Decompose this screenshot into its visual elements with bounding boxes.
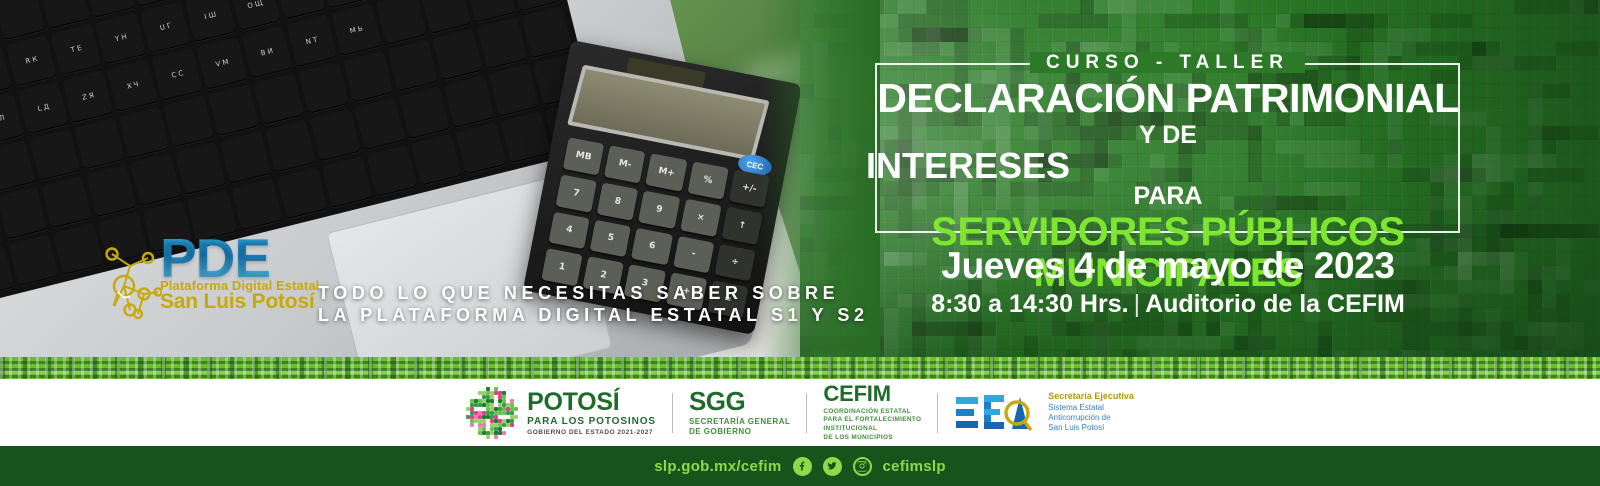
sea-line-3: Anticorrupción de [1048, 413, 1134, 423]
facebook-icon[interactable] [793, 457, 812, 476]
keyboard-key [42, 176, 92, 228]
keyboard-key: T Е [51, 23, 101, 75]
sea-line-4: San Luis Potosí [1048, 423, 1134, 433]
calculator-key: ÷ [714, 244, 756, 282]
emblem-pixel [494, 415, 498, 419]
emblem-pixel [490, 399, 494, 403]
keyboard-key: V М [197, 37, 247, 89]
calculator-key: % [687, 161, 729, 199]
keyboard-key [477, 17, 527, 69]
emblem-pixel [514, 407, 518, 411]
keyboard-key [376, 0, 426, 44]
institutional-logo-bar: POTOSÍ PARA LOS POTOSINOS GOBIERNO DEL E… [0, 379, 1600, 446]
detail-separator: | [1129, 290, 1146, 318]
keyboard-key [444, 75, 494, 127]
keyboard-key: X Ч [108, 59, 158, 111]
pde-logo-text: PDE Plataforma Digital Estatal San Luis … [160, 232, 319, 314]
emblem-pixel [502, 399, 506, 403]
calculator-key: 7 [556, 174, 598, 212]
keyboard-key [131, 153, 181, 205]
headline-line-2-c: PARA [1134, 182, 1203, 210]
decorative-mosaic-strip [0, 357, 1600, 379]
keyboard-key [420, 0, 470, 33]
cefim-logo: CEFIM COORDINACIÓN ESTATAL PARA EL FORTA… [823, 383, 921, 443]
cefim-subtitle-line-2: PARA EL FORTALECIMIENTO [823, 416, 921, 425]
event-details: Jueves 4 de mayo de 2023 8:30 a 14:30 Hr… [866, 245, 1470, 319]
calculator-key: - [673, 235, 715, 273]
sea-logo-text: Secretaría Ejecutiva Sistema Estatal Ant… [1048, 391, 1134, 433]
emblem-pixel [510, 419, 514, 423]
network-nodes-icon [100, 240, 162, 330]
keyboard-key: U Г [140, 1, 190, 53]
cefim-subtitle: COORDINACIÓN ESTATAL PARA EL FORTALECIMI… [823, 408, 921, 443]
calculator-key: +/- [729, 169, 771, 207]
keyboard-key [0, 0, 45, 40]
keyboard-key [277, 167, 327, 219]
calculator-key: 5 [590, 219, 632, 257]
calculator-key: 1 [541, 248, 583, 286]
keyboard-key [354, 98, 404, 150]
event-time-venue: 8:30 a 14:30 Hrs.|Auditorio de la CEFIM [866, 290, 1470, 319]
keyboard-key: Y Н [96, 12, 146, 64]
cefim-subtitle-line-3: INSTITUCIONAL [823, 425, 921, 434]
keyboard-key: B И [242, 26, 292, 78]
sea-emblem-icon [954, 391, 1040, 435]
sea-title: Secretaría Ejecutiva [1048, 391, 1134, 402]
keyboard-key [298, 62, 348, 114]
headline-line-2: Y DE INTERESES PARA [866, 123, 1470, 209]
keyboard-key [86, 164, 136, 216]
calculator-key: 8 [597, 182, 639, 220]
calculator-key: 4 [548, 211, 590, 249]
logo-divider [672, 393, 673, 433]
emblem-pixel [494, 435, 498, 439]
keyboard-key [500, 111, 550, 163]
emblem-pixel [490, 403, 494, 407]
calculator-key: × [680, 198, 722, 236]
keyboard-key [164, 95, 214, 147]
emblem-pixel [502, 391, 506, 395]
emblem-pixel [502, 431, 506, 435]
logo-divider [937, 393, 938, 433]
tagline-line-2: LA PLATAFORMA DIGITAL ESTATAL S1 Y S2 [318, 305, 869, 327]
sea-logo: Secretaría Ejecutiva Sistema Estatal Ant… [954, 391, 1134, 435]
social-handle[interactable]: cefimslp [883, 458, 946, 475]
event-date: Jueves 4 de mayo de 2023 [866, 245, 1470, 287]
emblem-pixel [482, 419, 486, 423]
sgg-subtitle-line-1: SECRETARÍA GENERAL [689, 417, 790, 427]
potosi-logo-text: POTOSÍ PARA LOS POTOSINOS GOBIERNO DEL E… [527, 390, 656, 436]
twitter-icon[interactable] [823, 457, 842, 476]
sgg-logo: SGG SECRETARÍA GENERAL DE GOBIERNO [689, 388, 790, 437]
potosi-gov-line: GOBIERNO DEL ESTADO 2021-2027 [527, 429, 656, 436]
keyboard-key [53, 223, 103, 275]
keyboard-key [30, 129, 80, 181]
emblem-pixel [470, 407, 474, 411]
kicker-label: CURSO - TALLER [875, 52, 1460, 74]
keyboard-key [456, 122, 506, 174]
keyboard-key: O Щ [230, 0, 280, 31]
emblem-pixel [502, 395, 506, 399]
sgg-subtitle: SECRETARÍA GENERAL DE GOBIERNO [689, 417, 790, 437]
headline-line-2-b: INTERESES [866, 148, 1470, 184]
cefim-subtitle-line-1: COORDINACIÓN ESTATAL [823, 408, 921, 417]
keyboard-key [343, 51, 393, 103]
pde-subtitle-2: San Luis Potosí [160, 290, 319, 314]
keyboard-key [0, 187, 47, 239]
contact-bar: slp.gob.mx/cefim cefimslp [0, 446, 1600, 486]
keyboard-key [75, 117, 125, 169]
keyboard-key [387, 39, 437, 91]
keyboard-key [310, 109, 360, 161]
emblem-pixel [490, 395, 494, 399]
keyboard-key [432, 28, 482, 80]
keyboard-key [232, 178, 282, 230]
cefim-acronym: CEFIM [823, 383, 921, 405]
emblem-pixel [494, 387, 498, 391]
tagline: TODO LO QUE NECESITAS SABER SOBRE LA PLA… [318, 283, 869, 327]
website-url[interactable]: slp.gob.mx/cefim [654, 458, 781, 475]
calculator-key: 6 [631, 227, 673, 265]
keyboard-key: R К [6, 34, 56, 86]
kicker-text: CURSO - TALLER [1030, 52, 1305, 73]
emblem-pixel [486, 387, 490, 391]
keyboard-key [0, 140, 36, 192]
headline-line-1: DECLARACIÓN PATRIMONIAL [866, 78, 1470, 119]
calculator-key: M+ [646, 153, 688, 191]
emblem-pixel [470, 423, 474, 427]
keyboard-key [489, 64, 539, 116]
emblem-pixel [498, 427, 502, 431]
keyboard-key: I Ш [185, 0, 235, 42]
calculator-key: MB [563, 137, 605, 175]
event-banner: Q ЙW ЦE УR КT ЕY НU ГI ШO ЩP ЗA ФS ЫD ВF… [0, 0, 1600, 486]
cefim-subtitle-line-4: DE LOS MUNICIPIOS [823, 434, 921, 443]
keyboard-key: Z Я [63, 70, 113, 122]
keyboard-key [39, 0, 89, 28]
keyboard-key: L Д [18, 82, 68, 134]
emblem-pixel [510, 399, 514, 403]
keyboard-key [366, 145, 416, 197]
emblem-pixel [510, 403, 514, 407]
calculator-key: 9 [638, 190, 680, 228]
tagline-line-1: TODO LO QUE NECESITAS SABER SOBRE [318, 283, 869, 305]
emblem-pixel [514, 415, 518, 419]
event-venue: Auditorio de la CEFIM [1145, 290, 1405, 318]
keyboard-key [220, 131, 270, 183]
keyboard-key: C С [152, 48, 202, 100]
keyboard-key: N Т [286, 15, 336, 67]
emblem-pixel [486, 435, 490, 439]
keyboard-key: M Ь [331, 3, 381, 55]
calculator-key: ↑ [721, 206, 763, 244]
keyboard-key [176, 142, 226, 194]
calculator-key: M- [604, 145, 646, 183]
emblem-pixel [482, 427, 486, 431]
keyboard-key [399, 86, 449, 138]
keyboard-key [522, 6, 572, 58]
potosi-logo: POTOSÍ PARA LOS POTOSINOS GOBIERNO DEL E… [466, 387, 656, 439]
emblem-pixel [510, 411, 514, 415]
keyboard-key [253, 73, 303, 125]
sgg-subtitle-line-2: DE GOBIERNO [689, 427, 790, 437]
pde-acronym: PDE [160, 232, 319, 284]
pde-logo: PDE Plataforma Digital Estatal San Luis … [100, 232, 320, 337]
keyboard-key [119, 106, 169, 158]
instagram-icon[interactable] [853, 457, 872, 476]
headline-line-2-a: Y DE [1139, 121, 1197, 149]
floral-emblem-icon [466, 387, 518, 439]
emblem-pixel [482, 423, 486, 427]
keyboard-key [265, 120, 315, 172]
keyboard-key [322, 156, 372, 208]
potosi-name: POTOSÍ [527, 390, 656, 415]
keyboard-key [209, 84, 259, 136]
keyboard-key [411, 134, 461, 186]
sea-line-2: Sistema Estatal [1048, 403, 1134, 413]
potosi-tagline: PARA LOS POTOSINOS [527, 416, 656, 427]
keyboard-key [9, 234, 59, 286]
logo-divider [806, 393, 807, 433]
event-time: 8:30 a 14:30 Hrs. [931, 290, 1128, 318]
sgg-acronym: SGG [689, 388, 790, 414]
emblem-pixel [510, 423, 514, 427]
